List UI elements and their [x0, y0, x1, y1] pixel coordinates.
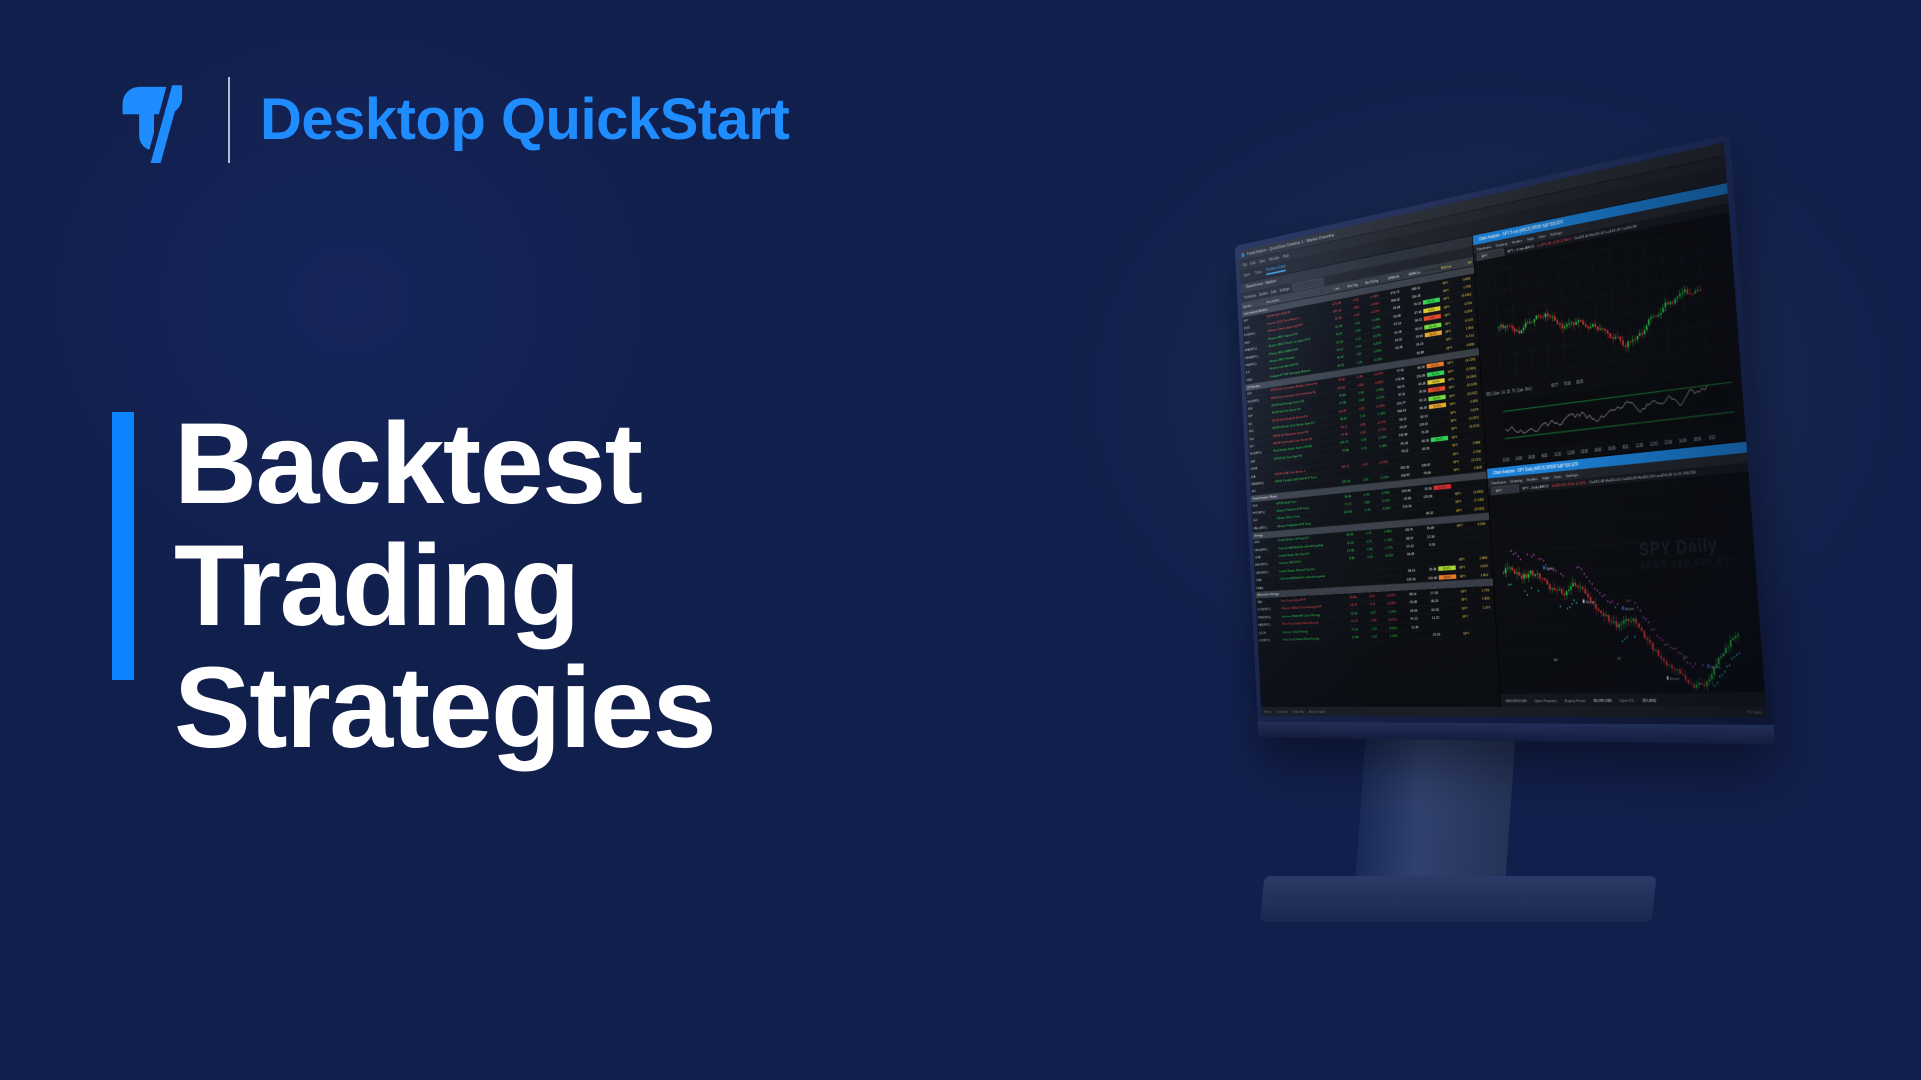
cell-52wk-hi: 38.10	[1397, 591, 1418, 596]
cell-52wk-hi	[1384, 355, 1405, 358]
cell-relcorr	[1451, 485, 1464, 486]
cell-relcorr: SPY	[1447, 417, 1461, 423]
cell-net-chg: 0.22	[1360, 634, 1379, 639]
cell-relcorr: SPY	[1455, 565, 1469, 570]
cell-52wk-lo: 14.22	[1419, 615, 1441, 620]
cell-last: 38.86	[1333, 494, 1353, 500]
cell-relcorr: SPY	[1451, 491, 1465, 497]
cell-52wk-hi: 181.30	[1390, 464, 1411, 471]
cell-last	[1337, 582, 1357, 583]
cell-relcorr: SPY	[1440, 304, 1453, 311]
cell-relcorr: SPY	[1448, 442, 1462, 448]
cell-symbol: USO	[1253, 538, 1277, 544]
cell-52wk-hi: 25.08	[1397, 600, 1418, 605]
open-pl-value: ($1,405)	[1642, 697, 1656, 702]
cell-52wk-lo	[1420, 626, 1441, 627]
cell-relcorr: SPY	[1455, 556, 1469, 561]
cell-relcorr	[1454, 542, 1467, 543]
cell-net-chg: 0.18	[1355, 547, 1373, 553]
cell-net-chg: 2.79	[1353, 508, 1371, 514]
cell-symbol: FRAK	[1255, 584, 1279, 589]
cell-last	[1336, 566, 1356, 567]
cell-dif	[1467, 532, 1487, 534]
svg-text:Market: Market	[1586, 600, 1595, 605]
menu-item-file[interactable]: File	[1242, 262, 1247, 268]
cell-52wk-lo: 70.29	[1409, 429, 1430, 436]
cell-relcorr: SPY	[1449, 450, 1463, 456]
cell-net-chg: 4.17	[1358, 594, 1377, 599]
cell-net-pct	[1375, 572, 1396, 573]
svg-text:Oct: Oct	[1683, 654, 1688, 659]
cell-net-pct: 4.60%	[1378, 625, 1399, 630]
cell-52wk-channel	[1432, 462, 1449, 464]
chart-column: Chart Analysis - SPY 5 min [ARCX] SPDR S…	[1473, 183, 1766, 707]
buying-power-value: $5,787,158	[1593, 698, 1611, 703]
cell-dif	[1464, 483, 1484, 485]
cell-dif	[1468, 549, 1488, 550]
cell-relcorr: SPY	[1452, 499, 1466, 505]
cell-relcorr: SPY	[1439, 279, 1452, 286]
cell-52wk-hi: 106.97	[1390, 473, 1411, 480]
cell-symbol: ICLN(INTL)	[1256, 606, 1280, 611]
cell-52wk-channel: 53.9%	[1427, 378, 1445, 385]
cell-last: 58.33	[1335, 532, 1355, 538]
cell-net-pct: -4.40%	[1377, 601, 1398, 606]
chart-top-studies-button[interactable]: Studies	[1512, 238, 1523, 245]
cell-relcorr: SPY	[1453, 523, 1467, 529]
poster-canvas: Desktop QuickStart Backtest Trading Stra…	[0, 0, 1921, 1080]
monitor-bezel: TradeStation - QuickStart Desktop 1 - Ma…	[1235, 134, 1776, 744]
cell-net-chg: -0.13	[1351, 461, 1369, 467]
status-tab-order-bar[interactable]: Order Bar	[1292, 709, 1304, 713]
cell-net-pct	[1375, 580, 1396, 581]
portfolio-status-bar: SIM1393533M Open Positions Buying Power …	[1501, 692, 1766, 707]
cell-52wk-channel	[1425, 349, 1442, 352]
cell-description: First Trust Global Wind Energy	[1281, 619, 1340, 626]
cell-relcorr	[1454, 533, 1467, 534]
cell-net-pct: 1.24%	[1373, 537, 1394, 543]
cell-52wk-channel: 41.5%	[1426, 362, 1444, 369]
menu-item-view[interactable]: View	[1259, 258, 1265, 264]
cell-52wk-channel	[1432, 471, 1449, 473]
cell-dif: 1.730	[1470, 588, 1491, 594]
cell-52wk-hi: 36.57	[1394, 535, 1415, 541]
ribbon-group-tools[interactable]: Tools	[1255, 270, 1262, 276]
cell-net-chg: 4.48	[1359, 618, 1378, 623]
monitor-screen: TradeStation - QuickStart Desktop 1 - Ma…	[1239, 142, 1767, 717]
cell-relcorr: SPY	[1446, 401, 1460, 407]
cell-net-chg	[1354, 518, 1372, 520]
cell-52wk-hi: 38.10	[1396, 568, 1417, 574]
open-positions-label: Open Positions	[1534, 698, 1557, 703]
cell-net-chg: 0.15	[1350, 437, 1368, 443]
cell-net-chg	[1357, 573, 1375, 574]
cell-net-chg: 1.13	[1348, 413, 1366, 420]
radarscreen-timeframe-button[interactable]: Timeframe	[1243, 293, 1256, 299]
svg-text:Market: Market	[1711, 665, 1721, 670]
cell-dif: 1.885	[1471, 596, 1492, 601]
cell-52wk-channel	[1430, 429, 1447, 431]
cell-net-chg: 1.10	[1355, 531, 1373, 537]
column-header-52wk-channel[interactable]: 52 Wk Chann	[1422, 266, 1440, 274]
cell-52wk-channel	[1422, 292, 1439, 295]
cell-52wk-hi: 11.39	[1399, 624, 1420, 629]
cell-52wk-lo: 48.20	[1418, 599, 1440, 604]
cell-net-pct: 1.17%	[1374, 545, 1395, 551]
cell-52wk-hi: 203.94	[1391, 488, 1412, 494]
chart-bottom-data-button[interactable]: Data	[1554, 474, 1561, 479]
cell-last: 14.73	[1338, 603, 1358, 608]
cell-last	[1337, 574, 1357, 575]
cell-net-pct	[1369, 453, 1389, 455]
cell-momentum-heat	[1473, 293, 1476, 294]
cell-52wk-hi: 132.98	[1388, 432, 1409, 439]
cell-symbol: URA	[1255, 577, 1279, 583]
cell-symbol: DBO(INTL)	[1254, 569, 1278, 575]
cell-52wk-lo: 79.00	[1411, 470, 1432, 477]
cell-52wk-hi	[1389, 459, 1410, 461]
cell-net-pct: -4.07%	[1377, 617, 1398, 622]
cell-52wk-lo: 12.50	[1415, 534, 1437, 540]
cell-net-chg: 0.15	[1350, 445, 1368, 451]
cell-52wk-hi: 91.12	[1398, 616, 1419, 621]
cell-52wk-channel: 53.6%	[1428, 403, 1446, 410]
cell-52wk-channel	[1430, 421, 1447, 423]
cell-52wk-hi: 132.10	[1396, 576, 1417, 582]
cell-net-pct: 1.95%	[1373, 529, 1394, 535]
cell-52wk-channel	[1441, 617, 1459, 618]
cell-52wk-lo: 60.35	[1410, 446, 1431, 453]
chart-top-drawing-button[interactable]: Drawing	[1496, 241, 1508, 248]
cell-dif	[1472, 615, 1492, 616]
cell-52wk-channel	[1441, 625, 1459, 626]
cell-52wk-hi: 59.65	[1398, 608, 1419, 613]
svg-text:Market: Market	[1670, 677, 1680, 682]
cell-description	[1279, 583, 1337, 586]
cell-net-pct: 0.78%	[1371, 490, 1392, 496]
cell-relcorr: SPY	[1445, 393, 1459, 399]
cell-52wk-lo: 125.59	[1412, 494, 1434, 500]
cell-52wk-lo: 17.19	[1418, 590, 1440, 596]
page-title: Backtest Trading Strategies	[174, 404, 715, 770]
radarscreen-studies-button[interactable]: Studies	[1259, 291, 1268, 297]
cell-relcorr: SPY	[1458, 606, 1472, 611]
account-id: SIM1393533M	[1505, 698, 1526, 703]
cell-last	[1334, 519, 1354, 521]
chart-bottom-settings-button[interactable]: Settings	[1566, 472, 1579, 478]
cell-52wk-channel	[1436, 526, 1453, 527]
cell-last: 33.90	[1338, 595, 1358, 600]
cell-net-pct: 0.41%	[1371, 498, 1392, 504]
header-divider	[228, 77, 230, 163]
cell-net-chg: 0.71	[1355, 539, 1373, 545]
cell-symbol: GLD	[1251, 501, 1275, 507]
cell-symbol: UNG(INTL)	[1253, 546, 1277, 552]
cell-net-pct: 3.01%	[1374, 553, 1395, 559]
cell-net-pct	[1369, 469, 1389, 471]
monitor-chin	[1258, 722, 1776, 745]
cell-net-chg	[1350, 455, 1368, 457]
cell-relcorr: SPY	[1446, 409, 1460, 415]
menu-item-help[interactable]: Help	[1283, 253, 1289, 259]
cell-symbol: BNO(INTL)	[1254, 561, 1278, 567]
cell-52wk-channel: 65.9%	[1438, 566, 1456, 572]
svg-text:Jul: Jul	[1617, 656, 1621, 661]
cell-52wk-lo	[1416, 552, 1437, 553]
cell-52wk-lo: 16.16	[1412, 486, 1434, 492]
cell-dif: (0.242)	[1459, 390, 1479, 397]
cell-52wk-channel	[1442, 634, 1460, 635]
cell-symbol: FAN(INTL)	[1257, 622, 1281, 627]
cell-description: First Trust Global Wind Energy	[1282, 635, 1341, 641]
cell-52wk-channel: 36.1%	[1427, 370, 1445, 377]
cell-last: 57.96	[1329, 432, 1349, 439]
headline-block: Backtest Trading Strategies	[112, 404, 715, 770]
cell-52wk-channel	[1436, 535, 1453, 536]
cell-dif: 2.190	[1462, 448, 1482, 455]
cell-dif: 2.980	[1462, 440, 1482, 447]
chart-top-settings-button[interactable]: Settings	[1550, 230, 1562, 237]
cell-last: 78.21	[1329, 424, 1349, 431]
cell-net-chg: 0.22	[1359, 610, 1378, 615]
cell-symbol: QCLN	[1257, 630, 1281, 635]
cell-net-chg: 0.41	[1352, 477, 1370, 483]
tradestation-logo-icon	[112, 77, 196, 163]
cell-52wk-hi	[1395, 562, 1416, 563]
cell-last: 25.25	[1335, 540, 1355, 546]
app-statusbar[interactable]: Matrix Trade Bar Order Bar Active Trader…	[1261, 707, 1767, 718]
cell-last: 6.80	[1336, 556, 1356, 562]
chart-bottom-canvas[interactable]: MarketMarketMarketMarketMarketAprJulOct …	[1489, 471, 1765, 693]
chart-top-indicator-upper: 70.00	[1564, 380, 1572, 387]
cell-dif: 1.862	[1469, 572, 1490, 578]
cell-net-chg: -0.32	[1348, 406, 1366, 413]
cell-52wk-lo	[1413, 504, 1434, 506]
radarscreen-settings-button[interactable]: Settings	[1279, 286, 1289, 292]
cell-net-chg	[1356, 565, 1374, 566]
cell-net-pct: 1.08%	[1368, 443, 1389, 450]
cell-52wk-channel	[1429, 413, 1446, 415]
buying-power-label: Buying Power	[1564, 698, 1585, 703]
product-name: Desktop QuickStart	[260, 91, 789, 149]
cell-52wk-channel	[1434, 503, 1451, 505]
cell-symbol: UGA	[1254, 554, 1278, 560]
cell-52wk-lo: 6.10	[1415, 542, 1437, 548]
svg-text:Apr: Apr	[1554, 657, 1559, 662]
cell-52wk-channel	[1431, 454, 1448, 456]
cell-relcorr: SPY	[1452, 507, 1466, 513]
cell-52wk-hi: 34.09	[1395, 552, 1416, 558]
cell-52wk-lo	[1416, 561, 1437, 562]
cell-relcorr: SPY	[1441, 320, 1455, 327]
cell-52wk-channel: 46.5%	[1430, 435, 1448, 441]
cell-relcorr: SPY	[1442, 328, 1456, 335]
cell-symbol: PBW(INTL)	[1257, 614, 1281, 619]
cell-relcorr: SPY	[1458, 614, 1472, 619]
cell-52wk-lo: 125.08	[1417, 575, 1439, 581]
cell-52wk-hi	[1393, 514, 1414, 516]
cell-net-chg: 0.60	[1353, 500, 1371, 506]
cell-relcorr: SPY	[1457, 597, 1471, 602]
cell-last: 21.71	[1333, 501, 1353, 507]
cell-52wk-channel	[1440, 600, 1458, 601]
cell-dif: 1.475	[1471, 605, 1492, 610]
cell-dif	[1473, 632, 1493, 633]
cell-net-pct: 1.29%	[1378, 633, 1399, 638]
cell-52wk-lo: 60.26	[1409, 438, 1430, 445]
menu-item-edit[interactable]: Edit	[1250, 260, 1255, 266]
ribbon-group-apps[interactable]: Apps	[1244, 272, 1251, 278]
cell-dif: (2.251)	[1463, 457, 1483, 464]
cell-dif: 2.880	[1468, 555, 1488, 561]
cell-momentum-heat	[1473, 302, 1476, 303]
chart-bottom-drawing-button[interactable]: Drawing	[1510, 477, 1522, 483]
cell-last: 109.74	[1330, 439, 1350, 446]
cell-net-pct: 3.00%	[1371, 506, 1392, 512]
cell-52wk-lo: 129.97	[1408, 421, 1429, 428]
svg-text:Market: Market	[1625, 606, 1634, 611]
cell-net-chg: 1.43	[1360, 626, 1379, 631]
cell-net-chg: -0.40	[1349, 429, 1367, 436]
status-state: TS State	[1746, 710, 1762, 715]
cell-last	[1331, 457, 1351, 459]
chart-top-indicator-lower: 30.00	[1576, 378, 1584, 385]
cell-relcorr: SPY	[1444, 368, 1458, 374]
cell-dif: 0.858	[1463, 465, 1483, 472]
cell-52wk-hi: 69.75	[1393, 527, 1414, 533]
cell-last: 79.98	[1330, 447, 1350, 454]
cell-symbol: LIT(INTL)	[1258, 637, 1282, 642]
status-tab-active-trader[interactable]: Active Trader	[1309, 709, 1325, 713]
cell-relcorr: SPY	[1440, 295, 1453, 302]
cell-last: 340.11	[1331, 463, 1351, 469]
chart-pane-daily: Chart Analysis - SPY Daily [ARCX] SPDR S…	[1487, 442, 1766, 707]
cell-last: 97.51	[1339, 619, 1359, 624]
cell-net-pct: -0.71%	[1367, 427, 1388, 434]
cell-net-pct: 0.13%	[1368, 435, 1389, 442]
cell-52wk-channel	[1437, 551, 1455, 552]
radarscreen-grid[interactable]: International MarketsSPYSPDR S&P 500 ETF…	[1242, 266, 1501, 707]
cell-last	[1332, 473, 1352, 475]
cell-52wk-channel: 92.9%	[1428, 386, 1446, 393]
chart-top-indicator-label: RSI ( Close , 14 , 30 , 70 , Cyan , Red …	[1486, 386, 1532, 398]
cell-relcorr: SPY	[1439, 287, 1452, 294]
cell-relcorr	[1455, 550, 1468, 551]
chart-bottom-studies-button[interactable]: Studies	[1527, 476, 1538, 482]
cell-dif: (1.297)	[1460, 415, 1480, 422]
cell-symbol: SLV	[1252, 517, 1276, 523]
cell-last: 167.25	[1332, 479, 1352, 485]
cell-52wk-hi: 216.26	[1392, 504, 1413, 510]
open-pl-label: Open P/L	[1619, 697, 1634, 702]
cell-description: Invesco Solar Energy	[1281, 627, 1340, 633]
cell-52wk-hi: 65.67	[1388, 424, 1409, 431]
cell-net-pct	[1375, 563, 1396, 564]
cell-52wk-channel	[1425, 341, 1442, 344]
cell-net-chg: -0.08	[1349, 421, 1367, 428]
radarscreen-window: RadarScreen - Markets Timeframe Studies …	[1241, 236, 1502, 707]
cell-relcorr: SPY	[1445, 384, 1459, 390]
cell-52wk-hi: 91.44	[1388, 440, 1409, 447]
cell-momentum-heat	[1472, 277, 1475, 278]
cell-relcorr: SPY	[1444, 376, 1458, 382]
cell-dif: (0.413)	[1461, 423, 1481, 430]
cell-dif	[1472, 624, 1492, 625]
cell-net-chg: 0.09	[1347, 398, 1365, 405]
monitor-photo: TradeStation - QuickStart Desktop 1 - Ma…	[1030, 120, 1850, 910]
cell-52wk-channel: 38.8%	[1438, 574, 1456, 579]
cell-dif: (2.490)	[1465, 489, 1485, 495]
cell-52wk-hi: 21.12	[1394, 543, 1415, 549]
svg-text:Market: Market	[1546, 566, 1555, 571]
app-logo-icon	[1241, 253, 1244, 258]
radarscreen-data-button[interactable]: Data	[1271, 289, 1277, 294]
cell-net-pct: -0.04%	[1369, 459, 1390, 466]
cell-52wk-channel	[1431, 446, 1448, 448]
chart-top-style-button[interactable]: Style	[1527, 235, 1535, 241]
cell-net-chg: 4.11	[1358, 602, 1377, 607]
cell-relcorr: SPY	[1456, 573, 1470, 578]
cell-last: 13.98	[1336, 548, 1356, 554]
cell-52wk-channel: 41.3%	[1433, 484, 1451, 490]
cell-symbol: PALL(INTL)	[1252, 524, 1276, 530]
cell-dif: 4.084	[1459, 398, 1479, 405]
cell-52wk-channel	[1435, 511, 1452, 513]
ribbon-tab-position-graph[interactable]: Position Graph	[1266, 264, 1286, 275]
cell-relcorr: SPY	[1448, 434, 1462, 440]
chart-top-indicator-value: 68.77	[1551, 382, 1559, 389]
status-tab-trade-bar[interactable]: Trade Bar	[1276, 709, 1288, 713]
cell-52wk-lo: 25.69	[1414, 525, 1436, 531]
chart-bottom-timeframe-button[interactable]: Timeframe	[1491, 479, 1506, 485]
cell-relcorr	[1459, 625, 1473, 626]
cell-52wk-lo: 60.34	[1419, 607, 1441, 612]
cell-description: Invesco WilderHill Clean Energy	[1280, 612, 1339, 619]
cell-52wk-lo: 139.97	[1411, 462, 1432, 469]
cell-net-pct: 0.25%	[1370, 475, 1391, 481]
cell-relcorr: SPY	[1459, 631, 1473, 636]
cell-relcorr: SPY	[1441, 312, 1454, 319]
brand-header: Desktop QuickStart	[112, 72, 789, 168]
cell-net-chg	[1357, 581, 1375, 582]
cell-net-pct: 1.25%	[1377, 609, 1398, 614]
cell-52wk-channel	[1438, 559, 1456, 560]
cell-dif: (1.148)	[1465, 497, 1485, 503]
column-header-relcorr[interactable]: RelCorr	[1440, 263, 1454, 270]
cell-52wk-channel	[1422, 284, 1439, 287]
cell-last: 10.88	[1340, 635, 1360, 640]
cell-52wk-channel	[1439, 592, 1457, 593]
cell-last: 102.60	[1334, 509, 1354, 515]
cell-net-pct	[1372, 516, 1393, 518]
cell-52wk-channel: 56.3%	[1428, 394, 1446, 401]
cell-last: 10.54	[1339, 611, 1359, 616]
cell-last: 72.61	[1340, 627, 1360, 632]
cell-52wk-lo	[1410, 456, 1431, 458]
cell-52wk-channel	[1434, 494, 1451, 496]
cell-dif	[1461, 434, 1481, 436]
cell-relcorr: SPY	[1442, 336, 1456, 343]
cell-52wk-hi: 78.22	[1389, 448, 1410, 455]
cell-relcorr: SPY	[1447, 426, 1461, 432]
chart-top-data-button[interactable]: Data	[1538, 233, 1545, 239]
cell-dif: 0.679	[1460, 406, 1480, 413]
chart-bottom-style-button[interactable]: Style	[1542, 475, 1550, 480]
cell-relcorr: SPY	[1450, 467, 1464, 473]
cell-dif: (6.504)	[1465, 506, 1485, 512]
status-tab-matrix[interactable]: Matrix	[1264, 709, 1271, 713]
cell-symbol: FPT(INTL)	[1252, 509, 1276, 515]
